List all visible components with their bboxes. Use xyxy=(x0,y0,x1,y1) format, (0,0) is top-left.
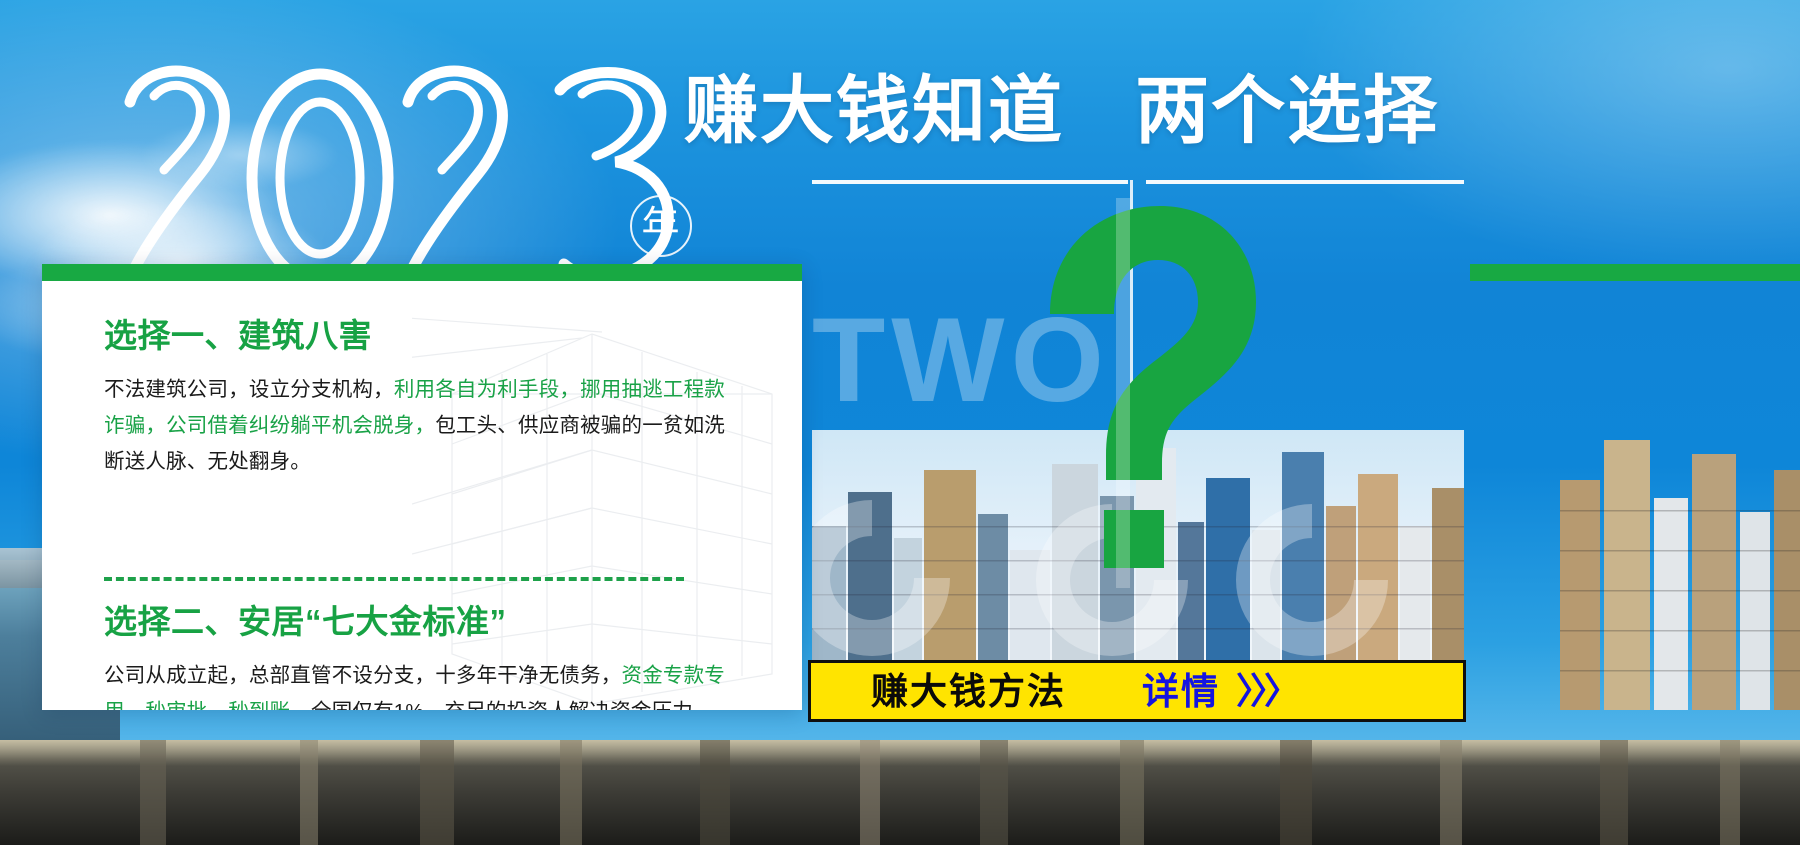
green-accent-strip xyxy=(1470,264,1800,281)
year-suffix: 年 xyxy=(630,195,692,257)
photo-sky xyxy=(812,430,1464,662)
section-one-line-2: 诈骗，公司借着纠纷躺平机会脱身，包工头、供应商被骗的一贫如洗 xyxy=(104,408,764,444)
page-title: 赚大钱知道 两个选择 xyxy=(684,74,1439,148)
headline-rule-left xyxy=(812,180,1128,184)
section-one-line-1: 不法建筑公司，设立分支机构，利用各自为利手段，挪用抽逃工程款 xyxy=(104,372,764,408)
section-one-title: 选择一、建筑八害 xyxy=(104,318,764,354)
cta-label: 赚大钱方法 xyxy=(871,673,1066,710)
section-two: 选择二、安居“七大金标准” 公司从成立起，总部直管不设分支，十多年干净无债务，资… xyxy=(104,604,764,710)
ghost-text-two: TWO xyxy=(812,300,1110,420)
bottom-reflection-strip xyxy=(0,740,1800,845)
text-highlight: 诈骗，公司借着纠纷躺平机会脱身， xyxy=(104,414,435,437)
bottom-glow xyxy=(0,740,1800,766)
headline-part-2: 两个选择 xyxy=(1135,69,1439,152)
cta-banner[interactable]: 赚大钱方法 详情 〉〉〉 xyxy=(808,660,1466,722)
text-plain: 包工头、供应商被骗的一贫如洗 xyxy=(435,414,725,437)
section-two-title: 选择二、安居“七大金标准” xyxy=(104,604,764,640)
section-one-body: 不法建筑公司，设立分支机构，利用各自为利手段，挪用抽逃工程款 诈骗，公司借着纠纷… xyxy=(104,372,764,480)
card-content: 选择一、建筑八害 不法建筑公司，设立分支机构，利用各自为利手段，挪用抽逃工程款 … xyxy=(42,264,802,480)
section-one: 选择一、建筑八害 不法建筑公司，设立分支机构，利用各自为利手段，挪用抽逃工程款 … xyxy=(104,318,764,480)
year-suffix-label: 年 xyxy=(630,195,692,257)
section-two-line-1: 公司从成立起，总部直管不设分支，十多年干净无债务，资金专款专 xyxy=(104,658,764,694)
poster-canvas: 年 赚大钱知道 两个选择 TWO CHOICES xyxy=(0,0,1800,845)
chevron-right-triple-icon: 〉〉〉 xyxy=(1236,673,1296,709)
content-card: 选择一、建筑八害 不法建筑公司，设立分支机构，利用各自为利手段，挪用抽逃工程款 … xyxy=(42,264,802,710)
text-highlight: 资金专款专 xyxy=(622,664,726,687)
cloud-decoration xyxy=(140,120,340,190)
cta-action-link[interactable]: 详情 xyxy=(1142,673,1220,710)
section-two-line-2: 用，秒审批、秒到账，全国仅有1%，充足的投资人解决资金压力。 xyxy=(104,694,764,710)
headline-rule-right xyxy=(1146,180,1464,184)
section-one-line-3: 断送人脉、无处翻身。 xyxy=(104,444,764,480)
headline-part-1: 赚大钱知道 xyxy=(684,69,1064,152)
text-plain: 公司从成立起，总部直管不设分支，十多年干净无债务， xyxy=(104,664,622,687)
text-highlight: 利用各自为利手段，挪用抽逃工程款 xyxy=(394,378,725,401)
text-plain: 全国仅有1%，充足的投资人解决资金压力。 xyxy=(311,700,714,710)
edge-city-decoration xyxy=(1560,420,1800,710)
text-plain: 断送人脉、无处翻身。 xyxy=(104,450,311,473)
section-two-body: 公司从成立起，总部直管不设分支，十多年干净无债务，资金专款专 用，秒审批、秒到账… xyxy=(104,658,764,710)
city-photo xyxy=(812,430,1464,662)
text-plain: 不法建筑公司，设立分支机构， xyxy=(104,378,394,401)
text-highlight: 用，秒审批、秒到账， xyxy=(104,700,311,710)
section-divider xyxy=(104,577,684,581)
